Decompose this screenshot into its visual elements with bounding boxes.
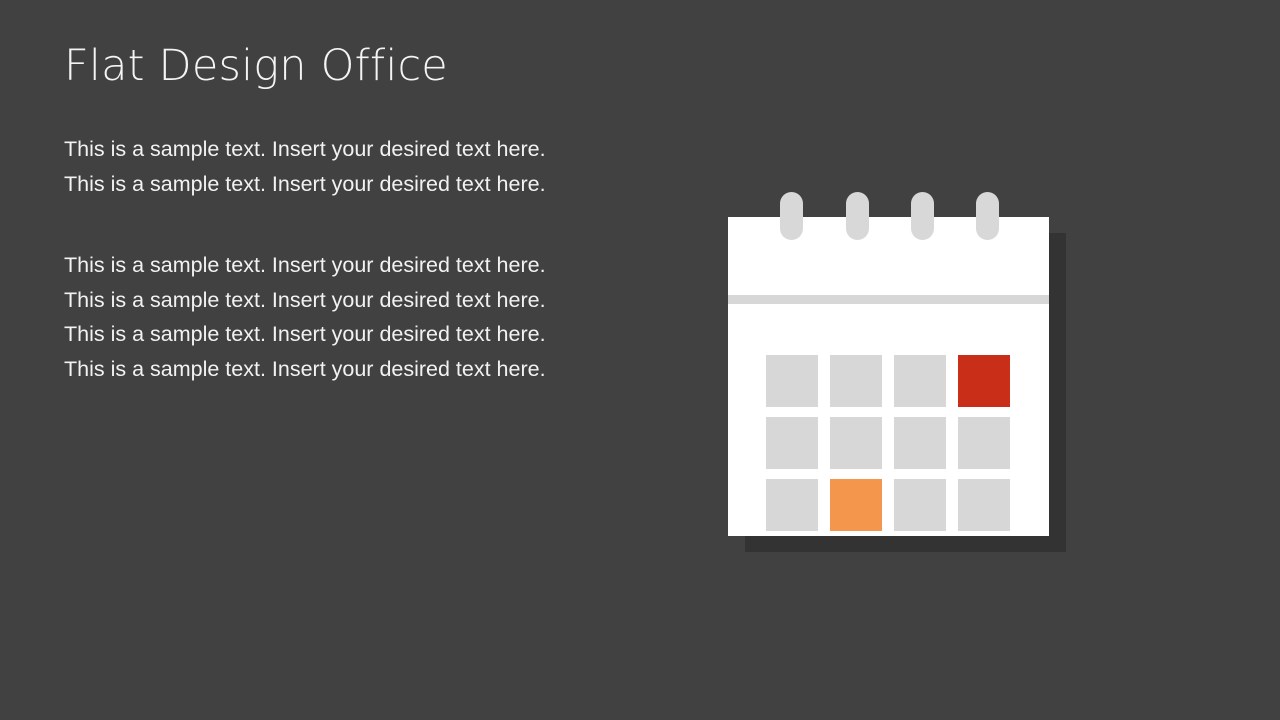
- calendar-header-divider: [728, 295, 1049, 304]
- body-paragraph-1: This is a sample text. Insert your desir…: [64, 132, 564, 201]
- calendar-page: [728, 217, 1049, 536]
- day-cell: [894, 355, 946, 407]
- calendar-day-grid: [766, 355, 1010, 531]
- day-cell: [766, 355, 818, 407]
- binder-ring-icon: [911, 192, 934, 240]
- day-cell: [766, 417, 818, 469]
- day-cell: [958, 479, 1010, 531]
- day-cell: [830, 355, 882, 407]
- day-cell-highlight-red: [958, 355, 1010, 407]
- binder-ring-icon: [976, 192, 999, 240]
- binder-ring-icon: [846, 192, 869, 240]
- day-cell: [830, 417, 882, 469]
- page-title: Flat Design Office: [64, 38, 584, 94]
- day-cell: [894, 417, 946, 469]
- day-cell: [894, 479, 946, 531]
- day-cell: [766, 479, 818, 531]
- calendar-illustration: [728, 186, 1073, 556]
- day-cell: [958, 417, 1010, 469]
- day-cell-highlight-orange: [830, 479, 882, 531]
- text-content-column: Flat Design Office This is a sample text…: [64, 38, 584, 386]
- body-paragraph-2: This is a sample text. Insert your desir…: [64, 248, 564, 386]
- binder-ring-icon: [780, 192, 803, 240]
- slide-canvas: Flat Design Office This is a sample text…: [0, 0, 1280, 720]
